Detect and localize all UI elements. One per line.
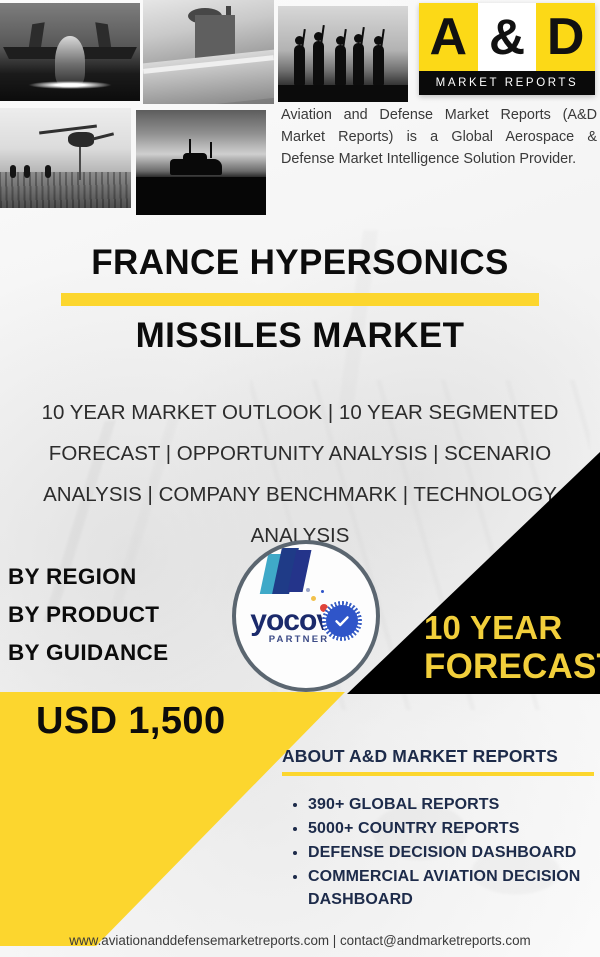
price-value: USD 1,500 <box>36 700 225 743</box>
logo-tagline: MARKET REPORTS <box>436 77 579 89</box>
title-divider-rule <box>61 293 539 306</box>
about-bullet-list: 390+ GLOBAL REPORTS 5000+ COUNTRY REPORT… <box>308 793 594 911</box>
segment-item-region: BY REGION <box>8 558 168 596</box>
list-item: 5000+ COUNTRY REPORTS <box>308 817 594 840</box>
logo-letter-d: D <box>536 3 595 71</box>
yocova-partner-badge: yocova PARTNER <box>232 540 380 692</box>
segment-item-product: BY PRODUCT <box>8 596 168 634</box>
forecast-callout: 10 YEAR FORECAST <box>424 608 600 686</box>
fighter-jet-photo <box>0 3 140 101</box>
ad-market-reports-logo: A & D MARKET REPORTS <box>419 3 595 95</box>
company-intro-text: Aviation and Defense Market Reports (A&D… <box>281 104 597 170</box>
soldiers-silhouette-photo <box>278 6 408 102</box>
report-cover-poster: A & D MARKET REPORTS Aviation and Defens… <box>0 0 600 957</box>
forecast-line-1: 10 YEAR <box>424 608 600 647</box>
about-heading: ABOUT A&D MARKET REPORTS <box>282 746 594 767</box>
title-line-2: MISSILES MARKET <box>0 316 600 355</box>
naval-ship-photo <box>143 0 274 104</box>
segmentation-list: BY REGION BY PRODUCT BY GUIDANCE <box>8 558 168 672</box>
scope-subtitle: 10 YEAR MARKET OUTLOOK | 10 YEAR SEGMENT… <box>14 392 586 556</box>
list-item: COMMERCIAL AVIATION DECISION DASHBOARD <box>308 865 594 911</box>
footer-contact[interactable]: www.aviationanddefensemarketreports.com … <box>0 933 600 948</box>
armored-vehicle-photo <box>136 110 266 215</box>
logo-ampersand: & <box>478 3 537 71</box>
verified-seal-icon <box>322 601 362 641</box>
about-section: ABOUT A&D MARKET REPORTS 390+ GLOBAL REP… <box>282 746 594 912</box>
list-item: DEFENSE DECISION DASHBOARD <box>308 841 594 864</box>
logo-letter-a: A <box>419 3 478 71</box>
forecast-line-2: FORECAST <box>424 647 600 686</box>
logo-tagline-bar: MARKET REPORTS <box>419 71 595 95</box>
logo-letter-blocks: A & D <box>419 3 595 71</box>
segment-item-guidance: BY GUIDANCE <box>8 634 168 672</box>
title-line-1: FRANCE HYPERSONICS <box>0 243 600 282</box>
list-item: 390+ GLOBAL REPORTS <box>308 793 594 816</box>
about-underline-rule <box>282 772 594 776</box>
page-title: FRANCE HYPERSONICS MISSILES MARKET <box>0 243 600 355</box>
checkmark-icon <box>333 612 351 630</box>
helicopter-photo <box>0 108 131 208</box>
